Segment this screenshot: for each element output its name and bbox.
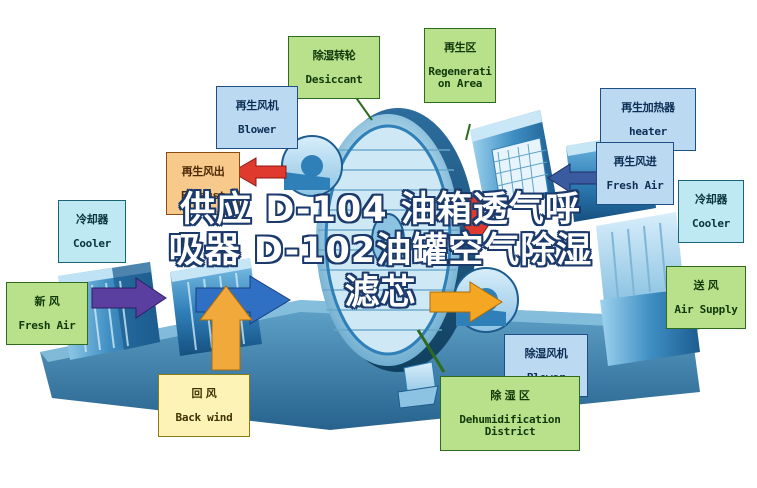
label-cooler-left: 冷却器 Cooler [58, 200, 126, 263]
diagram-canvas: 除湿转轮 Desiccant 再生区 Regenerati on Area 再生… [0, 0, 757, 488]
label-fresh-air: 新 风 Fresh Air [6, 282, 88, 345]
label-regeneration-area: 再生区 Regenerati on Area [424, 28, 496, 103]
label-back-wind: 回 风 Back wind [158, 374, 250, 437]
label-air-supply: 送 风 Air Supply [666, 266, 746, 329]
label-dehumidification-district: 除 湿 区 Dehumidification District [440, 376, 580, 451]
label-regeneration-blower: 再生风机 Blower [216, 86, 298, 149]
label-cooler-right: 冷却器 Cooler [678, 180, 744, 243]
label-regeneration-fresh-air: 再生风进 Fresh Air [596, 142, 674, 205]
label-desiccant: 除湿转轮 Desiccant [288, 36, 380, 99]
regen-area-pointer [466, 124, 470, 140]
label-exhaust: 再生风出 Exhaust [166, 152, 240, 215]
exhaust-arrow [232, 158, 286, 186]
